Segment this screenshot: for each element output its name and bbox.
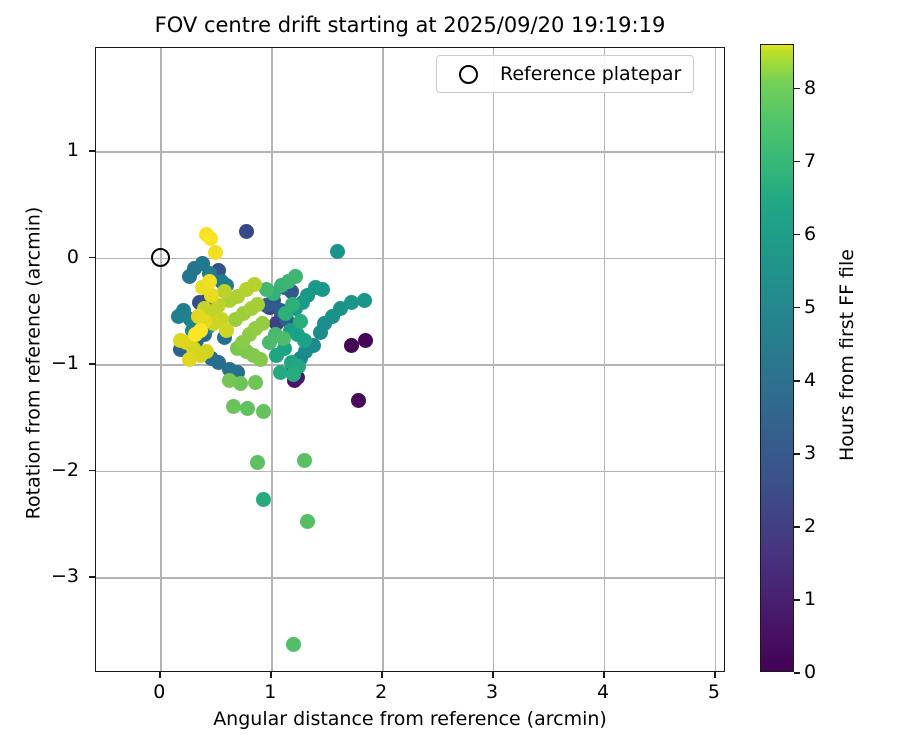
x-tick-label: 2 (351, 681, 411, 703)
x-tick-mark (270, 672, 272, 678)
scatter-point (250, 455, 265, 470)
colorbar-tick-mark (794, 672, 800, 674)
colorbar-tick-label: 3 (804, 442, 816, 464)
scatter-point (248, 375, 263, 390)
colorbar-tick-mark (794, 234, 800, 236)
colorbar-tick-mark (794, 88, 800, 90)
y-axis-label: Rotation from reference (arcmin) (23, 51, 45, 676)
scatter-point (285, 297, 300, 312)
open-circle-icon (459, 65, 478, 84)
colorbar-gradient (760, 44, 794, 672)
x-tick-mark (492, 672, 494, 678)
x-tick-mark (159, 672, 161, 678)
scatter-point (219, 323, 234, 338)
colorbar-tick-label: 6 (804, 223, 816, 245)
x-tick-label: 1 (240, 681, 300, 703)
scatter-point (344, 338, 359, 353)
colorbar-tick-mark (794, 599, 800, 601)
scatter-point (202, 274, 217, 289)
scatter-point (297, 453, 312, 468)
colorbar-tick-label: 2 (804, 515, 816, 537)
y-tick-mark (89, 150, 95, 152)
plot-area[interactable] (95, 47, 725, 672)
x-axis-label: Angular distance from reference (arcmin) (95, 708, 725, 730)
colorbar-tick-label: 8 (804, 77, 816, 99)
colorbar-tick-label: 5 (804, 296, 816, 318)
legend[interactable]: Reference platepar (436, 55, 694, 93)
scatter-point (247, 277, 262, 292)
scatter-point (330, 244, 345, 259)
scatter-point (286, 637, 301, 652)
y-tick-mark (89, 363, 95, 365)
figure-canvas: FOV centre drift starting at 2025/09/20 … (0, 0, 900, 750)
scatter-point (182, 269, 197, 284)
scatter-point (240, 401, 255, 416)
x-tick-label: 0 (129, 681, 189, 703)
scatter-point (358, 333, 373, 348)
x-tick-mark (603, 672, 605, 678)
scatter-point (269, 348, 284, 363)
gridline-horizontal (96, 258, 724, 259)
colorbar-tick-mark (794, 161, 800, 163)
x-tick-mark (381, 672, 383, 678)
colorbar-tick-label: 4 (804, 369, 816, 391)
reference-platepar-marker (151, 248, 170, 267)
colorbar-tick-mark (794, 453, 800, 455)
x-tick-label: 5 (684, 681, 744, 703)
scatter-point (262, 335, 277, 350)
x-tick-mark (714, 672, 716, 678)
scatter-point (351, 393, 366, 408)
gridline-horizontal (96, 471, 724, 472)
scatter-point (300, 514, 315, 529)
colorbar-label: Hours from first FF file (836, 41, 858, 669)
colorbar-tick-mark (794, 307, 800, 309)
scatter-point (203, 231, 218, 246)
scatter-point (173, 333, 188, 348)
colorbar-tick-mark (794, 380, 800, 382)
x-tick-label: 4 (573, 681, 633, 703)
scatter-point (357, 293, 372, 308)
y-tick-mark (89, 470, 95, 472)
colorbar-tick-mark (794, 526, 800, 528)
colorbar-tick-label: 0 (804, 661, 816, 683)
scatter-point (288, 269, 303, 284)
scatter-point (256, 404, 271, 419)
colorbar[interactable]: 012345678 (760, 44, 794, 672)
scatter-point (256, 492, 271, 507)
scatter-point (293, 314, 308, 329)
x-tick-label: 3 (462, 681, 522, 703)
y-tick-mark (89, 576, 95, 578)
scatter-point (255, 316, 270, 331)
colorbar-tick-label: 7 (804, 150, 816, 172)
legend-entry-label: Reference platepar (500, 63, 681, 85)
scatter-point (222, 373, 237, 388)
scatter-point (239, 224, 254, 239)
y-tick-mark (89, 257, 95, 259)
gridline-horizontal (96, 577, 724, 578)
page-title: FOV centre drift starting at 2025/09/20 … (95, 12, 725, 38)
scatter-point (315, 282, 330, 297)
colorbar-tick-label: 1 (804, 588, 816, 610)
gridline-horizontal (96, 151, 724, 152)
scatter-point (226, 399, 241, 414)
